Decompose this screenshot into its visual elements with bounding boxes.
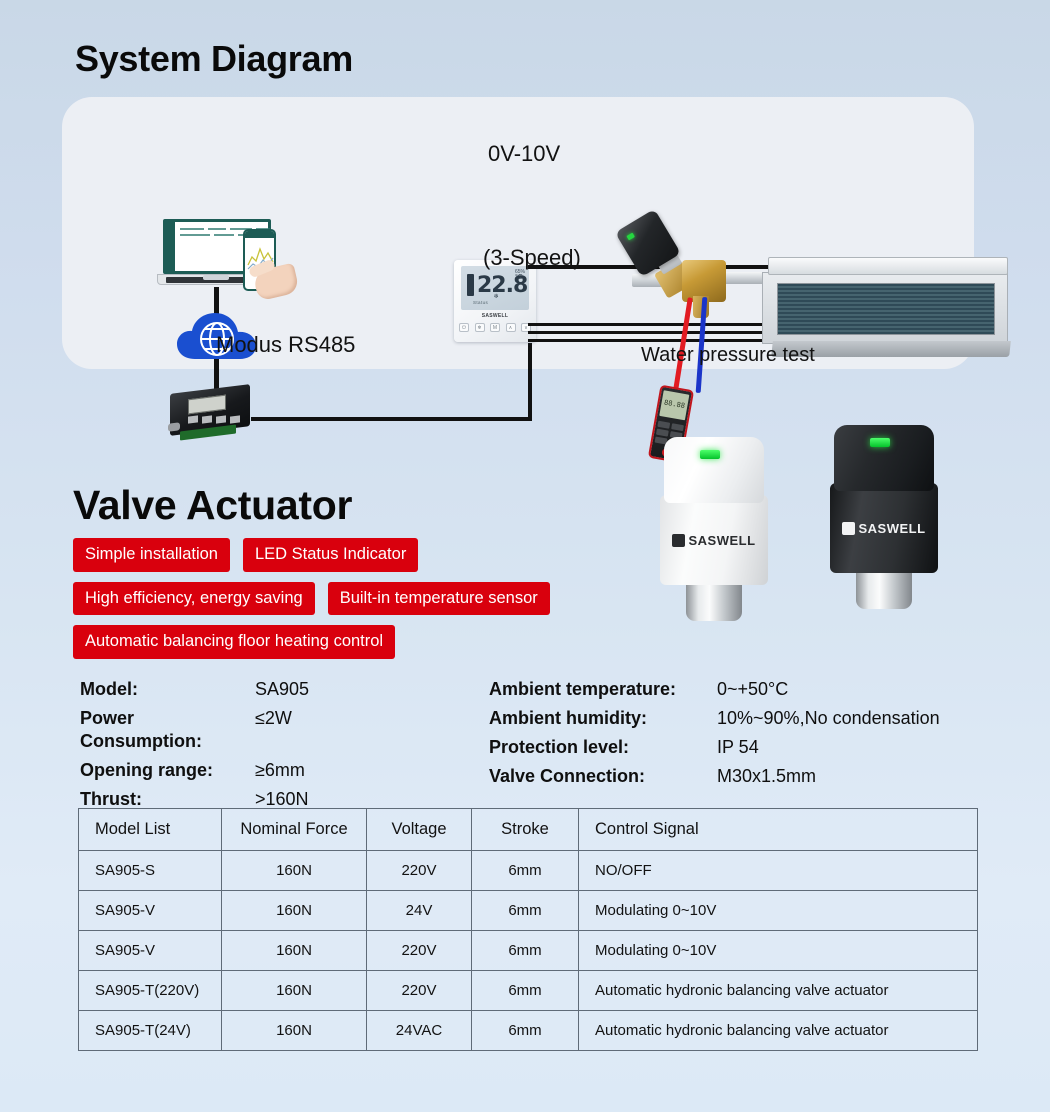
column-header: Model List: [79, 809, 222, 851]
table-row: SA905-T(220V) 160N 220V 6mm Automatic hy…: [79, 971, 978, 1011]
thermostat-device[interactable]: 22.8 °C 65% Status ❄ SASWELL ⏻ ❄ M ∧ ∨: [454, 260, 536, 342]
cell-voltage: 220V: [367, 971, 472, 1011]
wire-speed-3: [528, 339, 778, 342]
column-header: Voltage: [367, 809, 472, 851]
cell-model: SA905-V: [79, 891, 222, 931]
cell-model: SA905-T(220V): [79, 971, 222, 1011]
power-key[interactable]: ⏻: [459, 323, 469, 332]
spec-value: >160N: [255, 788, 309, 811]
cell-voltage: 24VAC: [367, 1011, 472, 1051]
model-list-table: Model List Nominal Force Voltage Stroke …: [78, 808, 978, 1051]
spec-label: Model:: [80, 678, 255, 701]
spec-row: Thrust: >160N: [80, 788, 309, 811]
cell-voltage: 24V: [367, 891, 472, 931]
spec-value: SA905: [255, 678, 309, 701]
wire-modbus-riser: [528, 343, 532, 421]
wire-speed-2: [528, 331, 778, 334]
cell-stroke: 6mm: [472, 1011, 579, 1051]
spec-value: ≥6mm: [255, 759, 305, 782]
cell-voltage: 220V: [367, 851, 472, 891]
feature-badge: LED Status Indicator: [243, 538, 418, 572]
cell-stroke: 6mm: [472, 851, 579, 891]
table-row: SA905-V 160N 24V 6mm Modulating 0~10V: [79, 891, 978, 931]
snowflake-icon: ❄: [494, 293, 499, 300]
cell-stroke: 6mm: [472, 971, 579, 1011]
cell-force: 160N: [222, 931, 367, 971]
column-header: Control Signal: [579, 809, 978, 851]
thermostat-status-label: Status: [473, 300, 488, 305]
label-modbus: Modus RS485: [216, 332, 355, 358]
spec-row: Opening range: ≥6mm: [80, 759, 309, 782]
led-status-indicator-icon: [626, 233, 635, 241]
feature-badge: Simple installation: [73, 538, 230, 572]
product-brand-logo: SASWELL: [830, 521, 938, 536]
spec-label: Ambient humidity:: [489, 707, 717, 730]
cell-force: 160N: [222, 891, 367, 931]
table-row: SA905-S 160N 220V 6mm NO/OFF: [79, 851, 978, 891]
cell-control-signal: Automatic hydronic balancing valve actua…: [579, 1011, 978, 1051]
label-water-pressure-test: Water pressure test: [641, 344, 815, 367]
cell-control-signal: Automatic hydronic balancing valve actua…: [579, 971, 978, 1011]
spec-value: M30x1.5mm: [717, 765, 816, 788]
mode-snow-key[interactable]: ❄: [475, 323, 485, 332]
badge-row: High efficiency, energy saving Built-in …: [73, 582, 633, 616]
led-status-indicator-icon: [700, 450, 720, 459]
thermostat-unit: °C: [515, 274, 523, 281]
laptop-icon: [157, 219, 297, 289]
table-row: SA905-T(24V) 160N 24VAC 6mm Automatic hy…: [79, 1011, 978, 1051]
black-valve-actuator-image: SASWELL: [830, 425, 938, 615]
spec-row: Protection level: IP 54: [489, 736, 940, 759]
thermostat-display: 22.8 °C 65% Status ❄: [461, 266, 529, 310]
led-status-indicator-icon: [870, 438, 890, 447]
cell-model: SA905-S: [79, 851, 222, 891]
spec-label: Thrust:: [80, 788, 255, 811]
cell-force: 160N: [222, 1011, 367, 1051]
spec-value: 10%~90%,No condensation: [717, 707, 940, 730]
spec-row: Valve Connection: M30x1.5mm: [489, 765, 940, 788]
spec-label: Valve Connection:: [489, 765, 717, 788]
page-title-system-diagram: System Diagram: [75, 38, 353, 80]
spec-value: IP 54: [717, 736, 759, 759]
saswell-mark-icon: [672, 534, 685, 547]
cell-voltage: 220V: [367, 931, 472, 971]
cell-model: SA905-T(24V): [79, 1011, 222, 1051]
saswell-mark-icon: [842, 522, 855, 535]
cell-stroke: 6mm: [472, 931, 579, 971]
column-header: Stroke: [472, 809, 579, 851]
table-header-row: Model List Nominal Force Voltage Stroke …: [79, 809, 978, 851]
spec-row: Ambient temperature: 0~+50°C: [489, 678, 940, 701]
system-diagram-panel: 22.8 °C 65% Status ❄ SASWELL ⏻ ❄ M ∧ ∨: [62, 97, 974, 369]
spec-label: Protection level:: [489, 736, 717, 759]
cell-stroke: 6mm: [472, 891, 579, 931]
spec-label: Opening range:: [80, 759, 255, 782]
feature-badge: Built-in temperature sensor: [328, 582, 550, 616]
thermostat-brand: SASWELL: [454, 313, 536, 319]
wire-modbus-bus: [251, 417, 532, 421]
cell-force: 160N: [222, 971, 367, 1011]
product-brand-logo: SASWELL: [660, 533, 768, 548]
cell-control-signal: Modulating 0~10V: [579, 891, 978, 931]
spec-list-right: Ambient temperature: 0~+50°C Ambient hum…: [489, 678, 940, 794]
spec-value: 0~+50°C: [717, 678, 788, 701]
badge-row: Simple installation LED Status Indicator: [73, 538, 633, 572]
spec-list-left: Model: SA905 Power Consumption: ≤2W Open…: [80, 678, 309, 817]
wire-speed-1: [528, 323, 778, 326]
menu-key[interactable]: M: [490, 323, 500, 332]
thermostat-keypad[interactable]: ⏻ ❄ M ∧ ∨: [459, 323, 531, 332]
spec-row: Ambient humidity: 10%~90%,No condensatio…: [489, 707, 940, 730]
page-title-valve-actuator: Valve Actuator: [73, 482, 352, 529]
feature-badge-list: Simple installation LED Status Indicator…: [73, 538, 633, 669]
label-0-10v: 0V-10V: [488, 141, 560, 167]
cell-control-signal: Modulating 0~10V: [579, 931, 978, 971]
white-valve-actuator-image: SASWELL: [660, 437, 768, 627]
spec-label: Power Consumption:: [80, 707, 255, 752]
table-row: SA905-V 160N 220V 6mm Modulating 0~10V: [79, 931, 978, 971]
cell-force: 160N: [222, 851, 367, 891]
spec-row: Power Consumption: ≤2W: [80, 707, 309, 752]
feature-badge: High efficiency, energy saving: [73, 582, 315, 616]
feature-badge: Automatic balancing floor heating contro…: [73, 625, 395, 659]
badge-row: Automatic balancing floor heating contro…: [73, 625, 633, 659]
spec-value: ≤2W: [255, 707, 292, 752]
label-3-speed: (3-Speed): [483, 245, 581, 271]
cell-control-signal: NO/OFF: [579, 851, 978, 891]
cell-model: SA905-V: [79, 931, 222, 971]
meter-display: 88.88: [661, 398, 688, 410]
gateway-controller-icon: [166, 385, 256, 441]
fan-level-bars-icon: [467, 274, 475, 300]
spec-label: Ambient temperature:: [489, 678, 717, 701]
up-key[interactable]: ∧: [506, 323, 516, 332]
column-header: Nominal Force: [222, 809, 367, 851]
spec-row: Model: SA905: [80, 678, 309, 701]
